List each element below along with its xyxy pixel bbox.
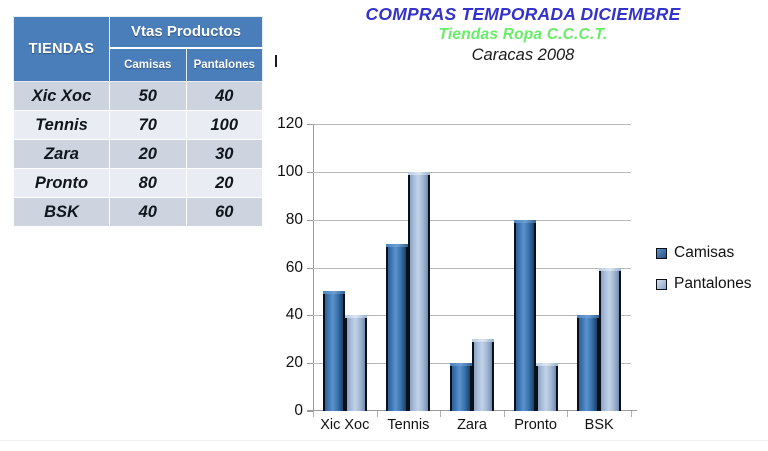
cell-camisas: 50 [110, 82, 187, 111]
x-axis-label: Pronto [504, 417, 568, 433]
legend-item-camisas: Camisas [656, 244, 768, 262]
y-axis-tick-label: 20 [259, 355, 303, 371]
table-head: TIENDAS Vtas Productos Camisas Pantalone… [14, 17, 263, 82]
column-header-tiendas: TIENDAS [14, 17, 110, 82]
y-axis-tick-label: 60 [259, 260, 303, 276]
bar-camisas [386, 244, 408, 411]
cell-tienda: Pronto [14, 169, 110, 198]
header-tick-mark [275, 55, 277, 67]
cell-pantalones: 60 [186, 198, 263, 227]
bar-pantalones [472, 339, 494, 411]
cell-camisas: 40 [110, 198, 187, 227]
cell-pantalones: 100 [186, 111, 263, 140]
bar-top-cap [577, 315, 599, 318]
cell-pantalones: 40 [186, 82, 263, 111]
x-axis-label: Tennis [377, 417, 441, 433]
bar-top-cap [345, 315, 367, 318]
column-group-header-vtas-productos: Vtas Productos [110, 17, 263, 48]
cell-tienda: Xic Xoc [14, 82, 110, 111]
bar-top-cap [450, 363, 472, 366]
y-axis-tick-label: 100 [259, 164, 303, 180]
cell-camisas: 20 [110, 140, 187, 169]
bar-group [440, 124, 504, 411]
chart-title-location: Caracas 2008 [288, 45, 758, 66]
x-axis-tick [631, 411, 632, 417]
x-axis-label: Xic Xoc [313, 417, 377, 433]
x-axis-label: BSK [567, 417, 631, 433]
cell-camisas: 80 [110, 169, 187, 198]
sales-data-table: TIENDAS Vtas Productos Camisas Pantalone… [13, 16, 260, 227]
table-row: Xic Xoc5040 [14, 82, 263, 111]
chart-title-sub: Tiendas Ropa C.C.C.T. [288, 25, 758, 45]
bar-top-cap [323, 291, 345, 294]
y-axis-tick-label: 120 [259, 116, 303, 132]
bar-pantalones [599, 268, 621, 412]
bar-chart: 120100806040200 Xic XocTennisZaraProntoB… [256, 112, 768, 442]
legend-label: Pantalones [674, 275, 752, 293]
x-axis-label: Zara [440, 417, 504, 433]
bar-camisas [514, 220, 536, 411]
table-row: Pronto8020 [14, 169, 263, 198]
bar-camisas [450, 363, 472, 411]
cell-tienda: Tennis [14, 111, 110, 140]
cell-pantalones: 30 [186, 140, 263, 169]
bar-camisas [323, 291, 345, 411]
bar-pantalones [408, 172, 430, 411]
cell-tienda: BSK [14, 198, 110, 227]
bar-group [567, 124, 631, 411]
plot-area [313, 124, 631, 411]
table-body: Xic Xoc5040Tennis70100Zara2030Pronto8020… [14, 82, 263, 227]
y-axis-tick-label: 0 [259, 403, 303, 419]
legend-swatch-icon [656, 279, 667, 290]
chart-legend: Camisas Pantalones [656, 244, 768, 306]
column-header-pantalones: Pantalones [186, 48, 263, 82]
bottom-divider [0, 440, 768, 441]
table: TIENDAS Vtas Productos Camisas Pantalone… [13, 16, 263, 227]
table-row: Zara2030 [14, 140, 263, 169]
table-header-row-1: TIENDAS Vtas Productos [14, 17, 263, 48]
bar-pantalones [345, 315, 367, 411]
legend-swatch-icon [656, 248, 667, 259]
table-row: BSK4060 [14, 198, 263, 227]
legend-label: Camisas [674, 244, 734, 262]
bar-top-cap [472, 339, 494, 342]
y-axis-tick-label: 80 [259, 212, 303, 228]
bar-top-cap [599, 268, 621, 271]
bar-top-cap [536, 363, 558, 366]
chart-title-main: COMPRAS TEMPORADA DICIEMBRE [288, 3, 758, 25]
bar-pantalones [536, 363, 558, 411]
y-axis-tick-label: 40 [259, 307, 303, 323]
y-axis-labels: 120100806040200 [256, 112, 303, 412]
bar-group [377, 124, 441, 411]
bar-group [504, 124, 568, 411]
cell-camisas: 70 [110, 111, 187, 140]
bar-camisas [577, 315, 599, 411]
cell-pantalones: 20 [186, 169, 263, 198]
table-row: Tennis70100 [14, 111, 263, 140]
legend-item-pantalones: Pantalones [656, 275, 768, 293]
column-header-camisas: Camisas [110, 48, 187, 82]
bar-top-cap [386, 244, 408, 247]
x-axis-labels: Xic XocTennisZaraProntoBSK [313, 417, 631, 441]
chart-title-block: COMPRAS TEMPORADA DICIEMBRE Tiendas Ropa… [288, 3, 758, 66]
cell-tienda: Zara [14, 140, 110, 169]
bar-top-cap [514, 220, 536, 223]
bar-group [313, 124, 377, 411]
bar-top-cap [408, 172, 430, 175]
